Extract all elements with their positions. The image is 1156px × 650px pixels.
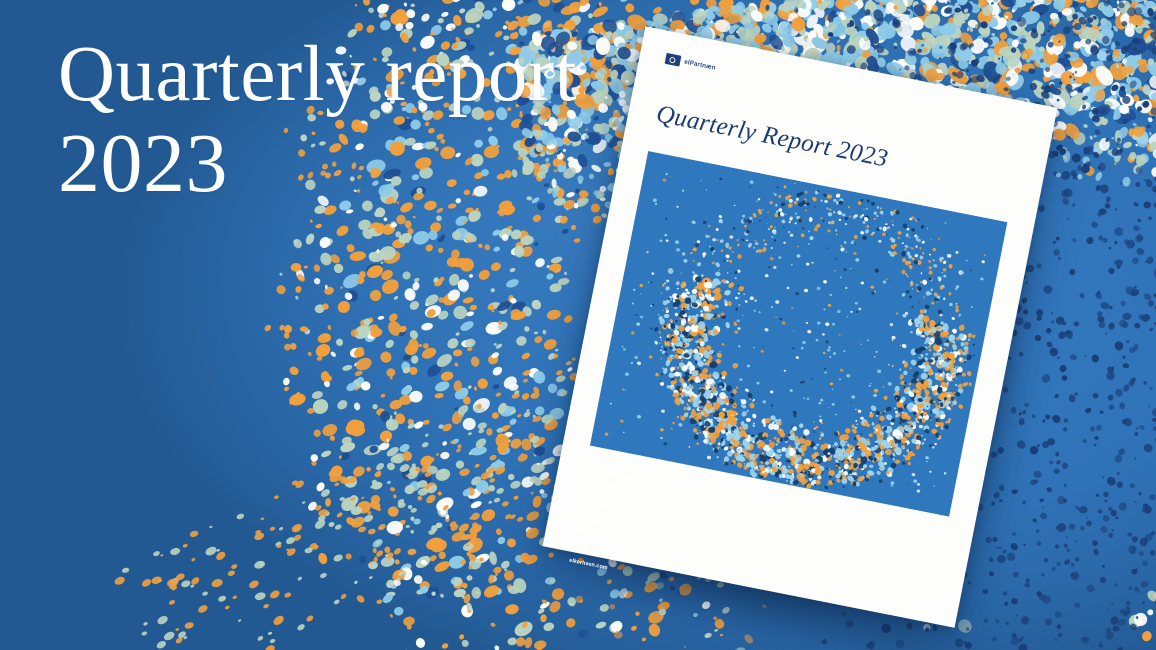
page-title: Quarterly report 2023 [58,34,577,208]
company-logo: elPartnæn [665,53,717,74]
headline-line-2: 2023 [58,121,577,208]
elkem-logo-mark-icon [665,53,682,67]
logo-wordmark: elPartnæn [684,58,717,71]
investor-relations-contact: Investor Relations contact Kjell S. Holm… [568,465,659,579]
headline-line-1: Quarterly report [58,34,577,115]
cover-particle-graphic [590,151,1007,516]
poster-canvas: Quarterly report 2023 elPartnæn Quarterl… [0,0,1156,650]
